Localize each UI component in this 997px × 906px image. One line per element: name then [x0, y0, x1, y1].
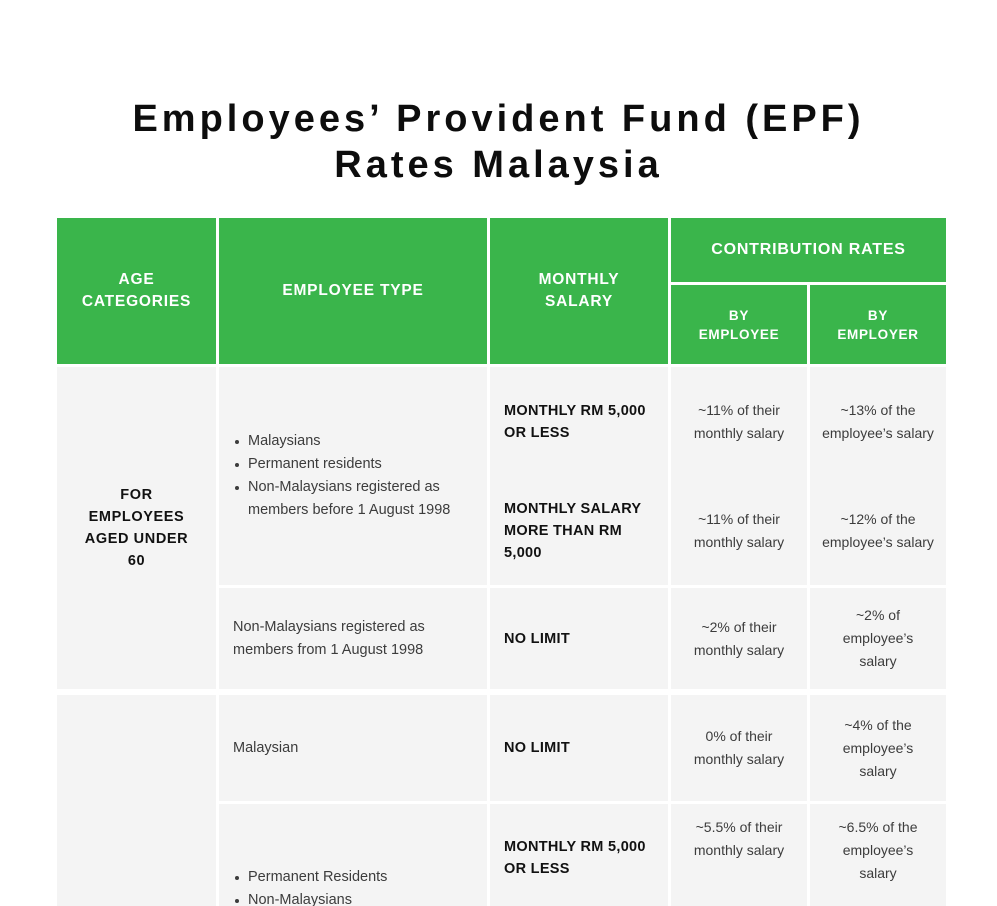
cell-monthly-salary: MONTHLY RM 5,000 OR LESS MONTHLY SALARY …: [490, 367, 668, 585]
page-title-line-1: Employees’ Provident Fund (EPF): [0, 96, 997, 142]
list-item: Malaysians: [233, 430, 473, 453]
employee-type-bullet-list: Malaysians Permanent residents Non-Malay…: [233, 430, 473, 522]
cell-by-employer: ~4% of the employee’s salary: [810, 695, 946, 801]
header-by-employer: BY EMPLOYER: [810, 285, 946, 364]
cell-monthly-salary: NO LIMIT: [490, 588, 668, 689]
cell-employee-type: Permanent Residents Non-Malaysians: [219, 804, 487, 906]
segment-salary-2: MONTHLY SALARY MORE THAN RM 5,000: [490, 476, 668, 585]
cell-by-employee: ~2% of their monthly salary: [671, 588, 807, 689]
header-monthly-salary-line-1: MONTHLY: [539, 269, 620, 291]
cell-by-employee: 0% of their monthly salary: [671, 695, 807, 801]
monthly-salary-segments: MONTHLY RM 5,000 OR LESS MONTHLY SALARY …: [490, 367, 668, 585]
header-contribution-rates: CONTRIBUTION RATES: [671, 218, 946, 282]
header-contribution-rates-group: CONTRIBUTION RATES BY EMPLOYEE BY EMPLOY…: [671, 218, 946, 364]
cell-monthly-salary: NO LIMIT: [490, 695, 668, 801]
header-contribution-rates-subheaders: BY EMPLOYEE BY EMPLOYER: [671, 285, 946, 364]
header-age-categories-line-1: AGE: [82, 269, 191, 291]
segment-by-employer-1: ~13% of the employee’s salary: [810, 367, 946, 476]
cell-monthly-salary: MONTHLY RM 5,000 OR LESS: [490, 804, 668, 906]
age-group-under-60-line-4: 60: [85, 550, 188, 572]
header-age-categories-line-2: CATEGORIES: [82, 291, 191, 313]
list-item: Permanent Residents: [233, 866, 387, 889]
header-by-employee-line-1: BY: [699, 306, 780, 325]
header-age-categories: AGE CATEGORIES: [57, 218, 216, 364]
list-item: Non-Malaysians registered as members bef…: [233, 476, 473, 522]
age-group-under-60-line-1: FOR: [85, 484, 188, 506]
header-monthly-salary: MONTHLY SALARY: [490, 218, 668, 364]
age-group-under-60-line-2: EMPLOYEES: [85, 506, 188, 528]
table-row: Malaysian NO LIMIT 0% of their monthly s…: [219, 695, 941, 801]
age-group-second: FOR EMPLOYEES: [57, 695, 216, 906]
cell-by-employer: ~6.5% of the employee’s salary: [810, 804, 946, 906]
header-by-employer-line-1: BY: [837, 306, 918, 325]
age-group-under-60: FOR EMPLOYEES AGED UNDER 60: [57, 367, 216, 689]
header-by-employee: BY EMPLOYEE: [671, 285, 807, 364]
employee-type-bullet-list: Permanent Residents Non-Malaysians: [233, 866, 387, 906]
cell-employee-type: Malaysian: [219, 695, 487, 801]
table-row: Permanent Residents Non-Malaysians MONTH…: [219, 804, 941, 906]
age-group-under-60-line-3: AGED UNDER: [85, 528, 188, 550]
page-title: Employees’ Provident Fund (EPF) Rates Ma…: [0, 96, 997, 188]
list-item: Permanent residents: [233, 453, 473, 476]
header-by-employer-line-2: EMPLOYER: [837, 325, 918, 344]
table-data-columns: Malaysians Permanent residents Non-Malay…: [219, 367, 941, 906]
cell-by-employee: ~11% of their monthly salary ~11% of the…: [671, 367, 807, 585]
by-employer-segments: ~13% of the employee’s salary ~12% of th…: [810, 367, 946, 585]
table-row: Non-Malaysians registered as members fro…: [219, 588, 941, 689]
infographic-page: Employees’ Provident Fund (EPF) Rates Ma…: [0, 0, 997, 906]
header-monthly-salary-line-2: SALARY: [539, 291, 620, 313]
header-employee-type: EMPLOYEE TYPE: [219, 218, 487, 364]
list-item: Non-Malaysians: [233, 889, 387, 906]
age-category-column: FOR EMPLOYEES AGED UNDER 60 FOR EMPLOYEE…: [57, 367, 216, 906]
segment-by-employee-1: ~11% of their monthly salary: [671, 367, 807, 476]
cell-employee-type: Non-Malaysians registered as members fro…: [219, 588, 487, 689]
page-title-line-2: Rates Malaysia: [0, 142, 997, 188]
segment-by-employer-2: ~12% of the employee’s salary: [810, 476, 946, 585]
segment-salary-1: MONTHLY RM 5,000 OR LESS: [490, 367, 668, 476]
cell-employee-type: Malaysians Permanent residents Non-Malay…: [219, 367, 487, 585]
cell-by-employee: ~5.5% of their monthly salary: [671, 804, 807, 906]
by-employee-segments: ~11% of their monthly salary ~11% of the…: [671, 367, 807, 585]
table-row: Malaysians Permanent residents Non-Malay…: [219, 367, 941, 585]
segment-by-employee-2: ~11% of their monthly salary: [671, 476, 807, 585]
epf-rates-table: AGE CATEGORIES EMPLOYEE TYPE MONTHLY SAL…: [57, 218, 941, 906]
cell-by-employer: ~2% of employee’s salary: [810, 588, 946, 689]
table-body: FOR EMPLOYEES AGED UNDER 60 FOR EMPLOYEE…: [57, 367, 941, 906]
table-header-row: AGE CATEGORIES EMPLOYEE TYPE MONTHLY SAL…: [57, 218, 941, 364]
header-by-employee-line-2: EMPLOYEE: [699, 325, 780, 344]
cell-by-employer: ~13% of the employee’s salary ~12% of th…: [810, 367, 946, 585]
